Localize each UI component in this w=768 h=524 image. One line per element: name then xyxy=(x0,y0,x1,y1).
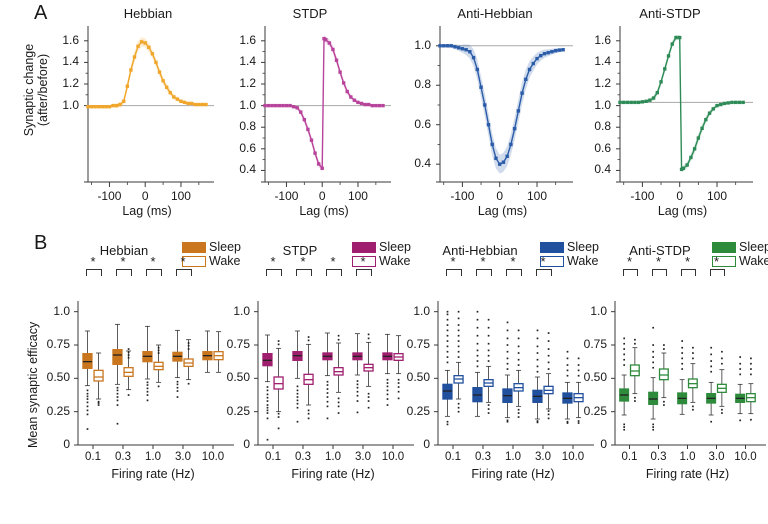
x-tick-label-B-antihebbian-2: 1.0 xyxy=(505,451,521,463)
y-tick-label-A-hebbian-3: 1.6 xyxy=(62,33,79,47)
x-tick-label-B-antistdp-4: 10.0 xyxy=(734,451,756,463)
x-tick-label-B-stdp-1: 0.3 xyxy=(295,451,311,463)
box-B-antihebbian-0.3-sleep xyxy=(473,311,482,416)
box-B-hebbian-0.1-wake xyxy=(94,353,103,406)
y-tick-label-A-antihebbian-0: 0.4 xyxy=(414,156,431,170)
x-axis-label-A-antihebbian: Lag (ms) xyxy=(478,204,527,218)
significance-bracket-B-stdp-0.3 xyxy=(296,269,311,276)
x-tick-label-B-hebbian-3: 3.0 xyxy=(175,451,191,463)
y-tick-label-A-antistdp-5: 1.4 xyxy=(594,54,611,68)
y-tick-label-A-antistdp-6: 1.6 xyxy=(594,33,611,47)
legend-B-hebbian: SleepWake xyxy=(182,240,241,268)
significance-bracket-B-antihebbian-3.0 xyxy=(536,269,551,276)
y-tick-label-B-antihebbian-0: 0 xyxy=(423,437,430,451)
plot-title-A-antihebbian: Anti-Hebbian xyxy=(457,6,532,21)
legend-item-wake-B-antihebbian: Wake xyxy=(540,254,599,268)
y-tick-label-B-hebbian-3: 0.75 xyxy=(47,337,70,351)
y-tick-label-B-stdp-3: 0.75 xyxy=(227,337,250,351)
significance-asterisk-B-antihebbian-0.1: * xyxy=(450,254,455,269)
x-tick-label-B-hebbian-4: 10.0 xyxy=(202,451,224,463)
box-B-stdp-0.1-wake xyxy=(274,340,283,429)
significance-asterisk-B-stdp-1.0: * xyxy=(330,254,335,269)
legend-label-wake: Wake xyxy=(567,255,599,268)
box-B-hebbian-1.0-sleep xyxy=(143,326,152,401)
significance-asterisk-B-antihebbian-0.3: * xyxy=(480,254,485,269)
y-tick-label-B-hebbian-1: 0.25 xyxy=(47,404,70,418)
y-tick-label-B-antihebbian-2: 0.50 xyxy=(407,370,430,384)
y-tick-label-B-antihebbian-1: 0.25 xyxy=(407,404,430,418)
box-B-antihebbian-10.0-sleep xyxy=(563,351,572,424)
legend-item-sleep-B-antihebbian: Sleep xyxy=(540,240,599,254)
x-tick-label-B-stdp-0: 0.1 xyxy=(265,451,281,463)
y-tick-label-A-antistdp-4: 1.2 xyxy=(594,76,611,90)
x-tick-label-B-antihebbian-3: 3.0 xyxy=(535,451,551,463)
panel-a-y-axis-label: Synaptic change (after/before) xyxy=(22,15,50,165)
box-B-hebbian-0.1-sleep xyxy=(83,331,92,430)
x-axis-label-B-hebbian: Firing rate (Hz) xyxy=(111,467,194,481)
significance-bracket-B-antihebbian-1.0 xyxy=(506,269,521,276)
legend-swatch-sleep-icon xyxy=(182,242,206,253)
x-tick-label-A-stdp-1: 0 xyxy=(319,189,326,203)
box-B-antihebbian-0.3-wake xyxy=(484,319,493,414)
legend-item-wake-B-antistdp: Wake xyxy=(712,254,768,268)
box-B-stdp-0.3-sleep xyxy=(293,331,302,423)
y-tick-label-B-hebbian-2: 0.50 xyxy=(47,370,70,384)
box-chart-B-hebbian xyxy=(78,305,240,459)
x-tick-label-A-antihebbian-1: 0 xyxy=(496,189,503,203)
x-tick-label-B-stdp-2: 1.0 xyxy=(325,451,341,463)
x-tick-label-A-hebbian-0: -100 xyxy=(97,189,121,203)
y-tick-label-B-hebbian-4: 1.0 xyxy=(53,304,70,318)
box-B-antistdp-1.0-wake xyxy=(689,347,698,411)
y-tick-label-B-antihebbian-3: 0.75 xyxy=(407,337,430,351)
legend-swatch-wake-icon xyxy=(182,256,206,267)
box-chart-B-antistdp xyxy=(615,305,768,459)
x-tick-label-B-stdp-3: 3.0 xyxy=(355,451,371,463)
x-tick-label-A-antihebbian-0: -100 xyxy=(450,189,474,203)
legend-label-wake: Wake xyxy=(379,255,411,268)
box-B-stdp-3.0-wake xyxy=(364,334,373,409)
plot-title-A-hebbian: Hebbian xyxy=(124,6,172,21)
x-axis-label-A-stdp: Lag (ms) xyxy=(299,204,348,218)
box-B-antihebbian-0.1-sleep xyxy=(443,311,452,425)
box-B-antihebbian-1.0-wake xyxy=(514,330,523,418)
significance-asterisk-B-hebbian-0.1: * xyxy=(90,254,95,269)
significance-asterisk-B-hebbian-3.0: * xyxy=(180,254,185,269)
y-tick-label-A-stdp-5: 1.4 xyxy=(239,54,256,68)
legend-B-antistdp: SleepWake xyxy=(712,240,768,268)
x-tick-label-B-antistdp-3: 3.0 xyxy=(709,451,725,463)
y-tick-label-B-stdp-1: 0.25 xyxy=(227,404,250,418)
line-chart-A-antistdp xyxy=(620,30,759,192)
y-tick-label-A-hebbian-0: 1.0 xyxy=(62,98,79,112)
legend-item-sleep-B-hebbian: Sleep xyxy=(182,240,241,254)
significance-bracket-B-antistdp-1.0 xyxy=(681,269,696,276)
significance-asterisk-B-antihebbian-3.0: * xyxy=(540,254,545,269)
y-tick-label-A-stdp-0: 0.4 xyxy=(239,162,256,176)
box-B-stdp-10.0-wake xyxy=(394,336,403,400)
x-tick-label-B-hebbian-2: 1.0 xyxy=(145,451,161,463)
x-tick-label-B-antistdp-2: 1.0 xyxy=(680,451,696,463)
box-B-hebbian-0.3-sleep xyxy=(113,324,122,424)
y-tick-label-B-antistdp-3: 0.75 xyxy=(584,337,607,351)
box-B-antihebbian-1.0-sleep xyxy=(503,322,512,423)
line-chart-A-hebbian xyxy=(88,30,220,192)
x-tick-label-B-hebbian-1: 0.3 xyxy=(115,451,131,463)
legend-item-sleep-B-antistdp: Sleep xyxy=(712,240,768,254)
box-B-antistdp-10.0-sleep xyxy=(736,356,745,421)
significance-asterisk-B-antihebbian-1.0: * xyxy=(510,254,515,269)
line-chart-A-antihebbian xyxy=(440,30,579,192)
legend-swatch-sleep-icon xyxy=(712,242,736,253)
box-B-antistdp-1.0-sleep xyxy=(678,340,687,414)
y-tick-label-A-stdp-3: 1.0 xyxy=(239,98,256,112)
x-tick-label-B-antihebbian-0: 0.1 xyxy=(445,451,461,463)
panel-b-y-axis-label: Mean synaptic efficacy xyxy=(26,322,40,448)
box-B-antistdp-3.0-wake xyxy=(718,351,727,414)
legend-item-wake-B-hebbian: Wake xyxy=(182,254,241,268)
y-tick-label-B-antistdp-2: 0.50 xyxy=(584,370,607,384)
significance-bracket-B-antistdp-3.0 xyxy=(710,269,725,276)
x-tick-label-A-antistdp-1: 0 xyxy=(676,189,683,203)
box-B-stdp-1.0-wake xyxy=(334,335,343,414)
y-tick-label-A-antihebbian-3: 1.0 xyxy=(414,38,431,52)
legend-label-sleep: Sleep xyxy=(739,241,768,254)
legend-label-sleep: Sleep xyxy=(209,241,241,254)
box-B-hebbian-10.0-wake xyxy=(214,332,223,373)
box-B-antihebbian-3.0-wake xyxy=(544,332,553,419)
box-B-antistdp-0.3-sleep xyxy=(649,327,658,431)
box-B-stdp-3.0-sleep xyxy=(353,334,362,414)
y-tick-label-A-antihebbian-2: 0.8 xyxy=(414,77,431,91)
significance-asterisk-B-hebbian-0.3: * xyxy=(120,254,125,269)
box-B-stdp-0.3-wake xyxy=(304,336,313,419)
panel-a-y-axis-label-line1: Synaptic change xyxy=(22,15,36,165)
plot-title-A-antistdp: Anti-STDP xyxy=(639,6,700,21)
significance-bracket-B-antistdp-0.3 xyxy=(652,269,667,276)
x-tick-label-B-antihebbian-4: 10.0 xyxy=(562,451,584,463)
panel-b-letter: B xyxy=(34,232,47,255)
box-B-hebbian-10.0-sleep xyxy=(203,331,212,372)
significance-bracket-B-stdp-3.0 xyxy=(356,269,371,276)
y-tick-label-A-stdp-4: 1.2 xyxy=(239,76,256,90)
box-B-antistdp-3.0-sleep xyxy=(707,347,716,423)
y-tick-label-B-hebbian-0: 0 xyxy=(63,437,70,451)
y-tick-label-A-stdp-6: 1.6 xyxy=(239,33,256,47)
box-B-antihebbian-3.0-sleep xyxy=(533,330,542,424)
y-tick-label-A-hebbian-2: 1.4 xyxy=(62,54,79,68)
plot-title-A-stdp: STDP xyxy=(293,6,328,21)
legend-label-wake: Wake xyxy=(739,255,768,268)
x-tick-label-B-antihebbian-1: 0.3 xyxy=(475,451,491,463)
x-axis-label-A-hebbian: Lag (ms) xyxy=(122,204,171,218)
x-tick-label-B-hebbian-0: 0.1 xyxy=(85,451,101,463)
box-B-antistdp-0.1-wake xyxy=(631,339,640,402)
y-tick-label-A-antistdp-2: 0.8 xyxy=(594,119,611,133)
significance-asterisk-B-antistdp-1.0: * xyxy=(685,254,690,269)
legend-label-sleep: Sleep xyxy=(379,241,411,254)
legend-swatch-sleep-icon xyxy=(352,242,376,253)
x-tick-label-A-stdp-2: 100 xyxy=(348,189,368,203)
significance-bracket-B-hebbian-3.0 xyxy=(176,269,191,276)
panel-a-y-axis-label-line2: (after/before) xyxy=(36,15,50,165)
x-tick-label-A-stdp-0: -100 xyxy=(274,189,298,203)
y-tick-label-A-antistdp-1: 0.6 xyxy=(594,141,611,155)
box-B-antistdp-0.3-wake xyxy=(660,344,669,406)
significance-bracket-B-hebbian-0.1 xyxy=(86,269,101,276)
significance-bracket-B-antistdp-0.1 xyxy=(623,269,638,276)
box-B-antihebbian-0.1-wake xyxy=(454,311,463,413)
significance-asterisk-B-antistdp-3.0: * xyxy=(714,254,719,269)
box-B-stdp-1.0-sleep xyxy=(323,333,332,419)
y-tick-label-A-hebbian-1: 1.2 xyxy=(62,76,79,90)
y-tick-label-A-antihebbian-1: 0.6 xyxy=(414,117,431,131)
significance-asterisk-B-antistdp-0.3: * xyxy=(656,254,661,269)
x-axis-label-A-antistdp: Lag (ms) xyxy=(658,204,707,218)
x-axis-label-B-antistdp: Firing rate (Hz) xyxy=(646,467,729,481)
y-tick-label-A-antistdp-3: 1.0 xyxy=(594,98,611,112)
box-B-stdp-0.1-sleep xyxy=(263,335,272,441)
legend-swatch-sleep-icon xyxy=(540,242,564,253)
box-B-hebbian-0.3-wake xyxy=(124,348,133,396)
box-B-hebbian-3.0-sleep xyxy=(173,330,182,398)
significance-bracket-B-hebbian-0.3 xyxy=(116,269,131,276)
box-B-stdp-10.0-sleep xyxy=(383,334,392,406)
y-tick-label-B-antistdp-1: 0.25 xyxy=(584,404,607,418)
x-axis-label-B-stdp: Firing rate (Hz) xyxy=(291,467,374,481)
box-B-antistdp-10.0-wake xyxy=(747,358,756,421)
box-chart-B-stdp xyxy=(258,305,420,459)
significance-asterisk-B-hebbian-1.0: * xyxy=(150,254,155,269)
y-tick-label-A-stdp-2: 0.8 xyxy=(239,119,256,133)
y-tick-label-A-antistdp-0: 0.4 xyxy=(594,162,611,176)
legend-item-sleep-B-stdp: Sleep xyxy=(352,240,411,254)
significance-bracket-B-antihebbian-0.1 xyxy=(446,269,461,276)
x-tick-label-A-hebbian-1: 0 xyxy=(142,189,149,203)
box-B-antistdp-0.1-sleep xyxy=(620,338,629,431)
legend-label-wake: Wake xyxy=(209,255,241,268)
x-tick-label-A-hebbian-2: 100 xyxy=(171,189,191,203)
y-tick-label-B-antistdp-4: 1.0 xyxy=(590,304,607,318)
significance-asterisk-B-stdp-3.0: * xyxy=(360,254,365,269)
significance-asterisk-B-stdp-0.1: * xyxy=(270,254,275,269)
x-tick-label-A-antihebbian-2: 100 xyxy=(527,189,547,203)
x-tick-label-B-antistdp-1: 0.3 xyxy=(651,451,667,463)
y-tick-label-B-stdp-4: 1.0 xyxy=(233,304,250,318)
x-tick-label-B-antistdp-0: 0.1 xyxy=(622,451,638,463)
y-tick-label-B-antihebbian-4: 1.0 xyxy=(413,304,430,318)
significance-asterisk-B-stdp-0.3: * xyxy=(300,254,305,269)
box-B-antihebbian-10.0-wake xyxy=(574,358,583,424)
legend-B-antihebbian: SleepWake xyxy=(540,240,599,268)
box-B-hebbian-3.0-wake xyxy=(184,340,193,385)
legend-label-sleep: Sleep xyxy=(567,241,599,254)
significance-bracket-B-stdp-0.1 xyxy=(266,269,281,276)
x-axis-label-B-antihebbian: Firing rate (Hz) xyxy=(471,467,554,481)
significance-bracket-B-stdp-1.0 xyxy=(326,269,341,276)
y-tick-label-B-stdp-2: 0.50 xyxy=(227,370,250,384)
y-tick-label-A-stdp-1: 0.6 xyxy=(239,141,256,155)
line-chart-A-stdp xyxy=(265,30,397,192)
significance-bracket-B-hebbian-1.0 xyxy=(146,269,161,276)
y-tick-label-B-stdp-0: 0 xyxy=(243,437,250,451)
box-chart-B-antihebbian xyxy=(438,305,600,459)
x-tick-label-B-stdp-4: 10.0 xyxy=(382,451,404,463)
significance-bracket-B-antihebbian-0.3 xyxy=(476,269,491,276)
x-tick-label-A-antistdp-2: 100 xyxy=(707,189,727,203)
x-tick-label-A-antistdp-0: -100 xyxy=(630,189,654,203)
y-tick-label-B-antistdp-0: 0 xyxy=(600,437,607,451)
box-B-hebbian-1.0-wake xyxy=(154,345,163,387)
significance-asterisk-B-antistdp-0.1: * xyxy=(627,254,632,269)
